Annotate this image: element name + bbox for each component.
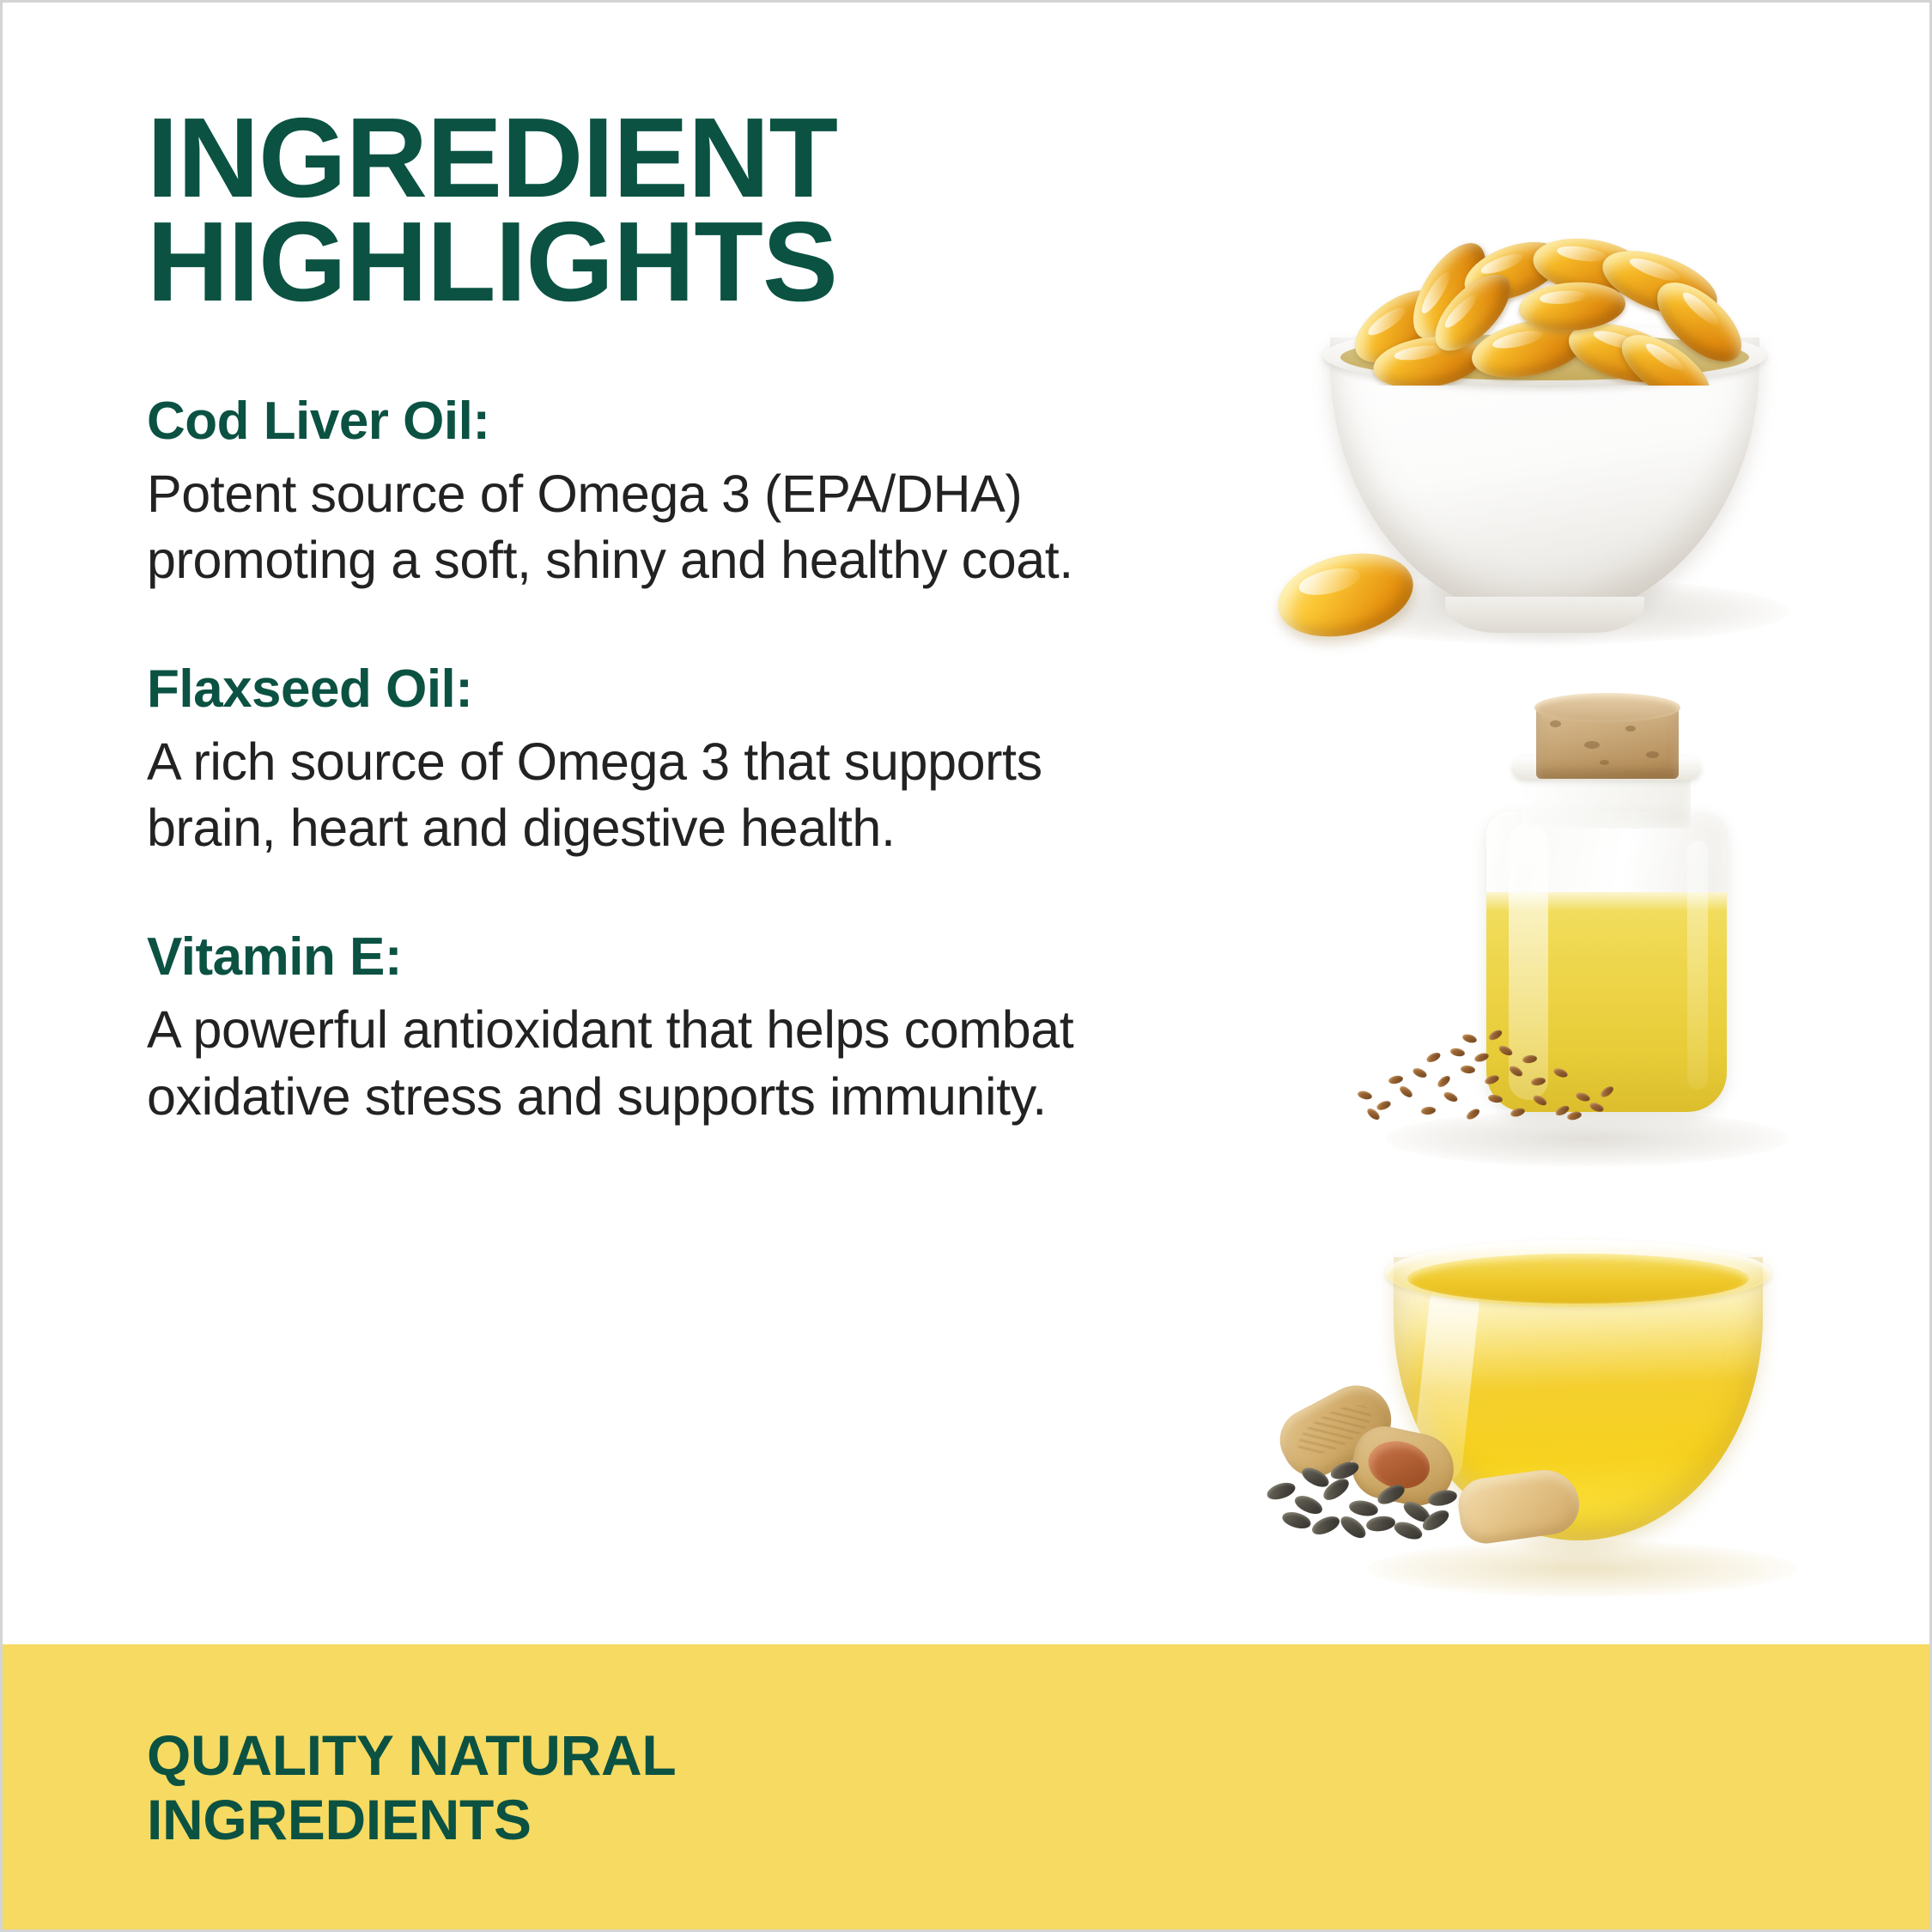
glass-bowl-shadow	[1368, 1540, 1797, 1597]
ingredient-body-vitamin-e: A powerful antioxidant that helps combat…	[147, 997, 1143, 1130]
cork-top	[1534, 693, 1680, 722]
quality-banner: QUALITY NATURAL INGREDIENTS	[3, 1644, 1929, 1929]
page-title: INGREDIENT HIGHLIGHTS	[147, 106, 1160, 314]
text-column: INGREDIENT HIGHLIGHTS Cod Liver Oil: Pot…	[147, 106, 1160, 1130]
flaxseed-pile	[1354, 1028, 1620, 1129]
capsule-pile	[1342, 238, 1751, 386]
ingredient-heading-flaxseed-oil: Flaxseed Oil:	[147, 661, 1160, 717]
ingredient-heading-vitamin-e: Vitamin E:	[147, 929, 1160, 985]
fish-oil-capsules-image	[1248, 209, 1849, 690]
quality-banner-text: QUALITY NATURAL INGREDIENTS	[147, 1723, 676, 1852]
oil-surface	[1407, 1254, 1749, 1303]
ingredient-heading-cod-liver-oil: Cod Liver Oil:	[147, 393, 1160, 449]
infographic-frame: INGREDIENT HIGHLIGHTS Cod Liver Oil: Pot…	[0, 0, 1932, 1932]
ingredient-section-vitamin-e: Vitamin E: A powerful antioxidant that h…	[147, 929, 1160, 1130]
vitamin-e-oil-bowl-image	[1256, 1200, 1866, 1630]
flaxseed-oil-jar-image	[1265, 681, 1866, 1188]
image-column	[1196, 114, 1900, 1634]
ingredient-body-flaxseed-oil: A rich source of Omega 3 that supports b…	[147, 729, 1143, 862]
jar-highlight-right	[1687, 841, 1708, 1090]
ingredient-section-flaxseed-oil: Flaxseed Oil: A rich source of Omega 3 t…	[147, 661, 1160, 862]
bowl-foot	[1445, 597, 1644, 633]
ingredient-section-cod-liver-oil: Cod Liver Oil: Potent source of Omega 3 …	[147, 393, 1160, 594]
ingredient-body-cod-liver-oil: Potent source of Omega 3 (EPA/DHA) promo…	[147, 461, 1143, 594]
